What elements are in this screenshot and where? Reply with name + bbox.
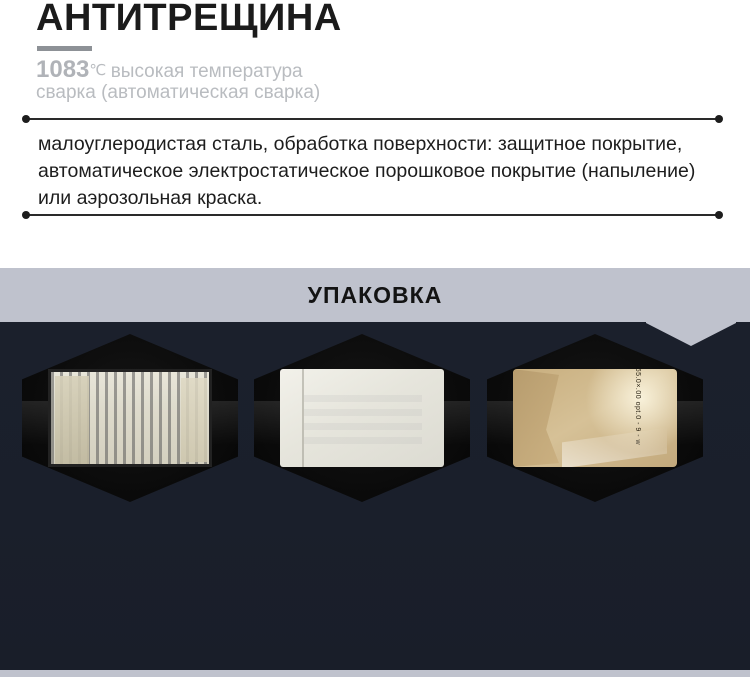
temperature-unit: ℃ [89, 62, 106, 79]
carton-tape [513, 369, 559, 467]
packaging-showcase-section: 65.0×.00 opt.0 - 9 - w пузырьковая упако… [0, 322, 750, 670]
description-box: малоуглеродистая сталь, обработка поверх… [25, 118, 720, 216]
packaging-photo-frame-1 [22, 334, 238, 502]
bubble-wrap-fold-left [55, 376, 89, 464]
packaging-banner-title: УПАКОВКА [0, 268, 750, 322]
corner-dot-bottom-right-icon [715, 211, 723, 219]
product-detail-page: АНТИТРЕЩИНА 1083℃ высокая температура св… [0, 0, 750, 677]
packaging-banner: УПАКОВКА [0, 268, 750, 322]
carton-plastic-sheen [562, 428, 667, 467]
corner-dot-top-left-icon [22, 115, 30, 123]
packaging-photo-row: 65.0×.00 opt.0 - 9 - w [0, 322, 750, 670]
bubble-wrap-fold-right [181, 378, 207, 462]
header-section: АНТИТРЕЩИНА 1083℃ высокая температура св… [0, 0, 750, 268]
corner-dot-top-right-icon [715, 115, 723, 123]
description-box-top-border [25, 118, 720, 120]
foam-wrapped-product-photo [280, 369, 444, 467]
weld-caption: сварка (автоматическая сварка) [36, 82, 736, 103]
description-box-bottom-border [25, 214, 720, 216]
packaging-photo-frame-3: 65.0×.00 opt.0 - 9 - w [487, 334, 703, 502]
bubble-wrapped-product-photo [48, 369, 212, 467]
temperature-value: 1083 [36, 56, 89, 83]
title-underline-rule [37, 46, 92, 51]
brown-carton-box-photo: 65.0×.00 opt.0 - 9 - w [513, 369, 677, 467]
temperature-subtitle: 1083℃ высокая температура сварка (автома… [36, 57, 736, 103]
bottom-strip [0, 670, 750, 677]
corner-dot-bottom-left-icon [22, 211, 30, 219]
packaging-photo-frame-2 [254, 334, 470, 502]
temperature-caption: высокая температура [111, 61, 303, 82]
page-title: АНТИТРЕЩИНА [36, 0, 342, 40]
description-text: малоуглеродистая сталь, обработка поверх… [38, 131, 710, 212]
foam-bag-shading [304, 395, 422, 449]
